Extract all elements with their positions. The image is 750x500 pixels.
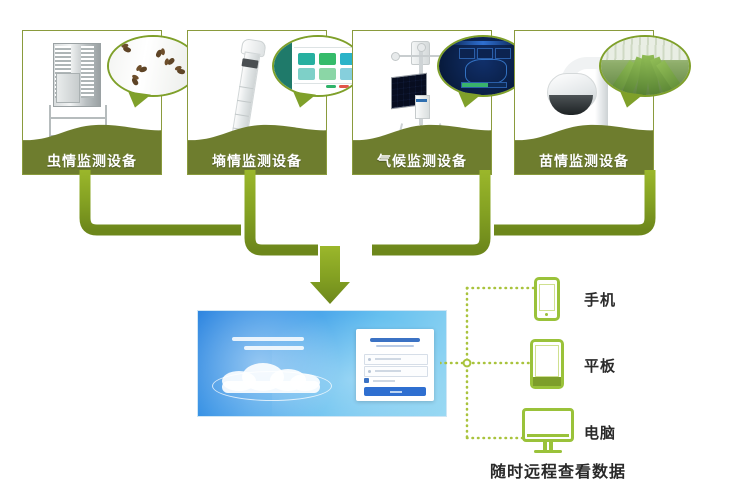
crop-callout-bubble bbox=[599, 35, 691, 97]
platform-login-card[interactable] bbox=[356, 329, 434, 401]
remember-label bbox=[373, 380, 395, 382]
source-card-pest[interactable]: 虫情监测设备 bbox=[22, 30, 162, 175]
callout-tail bbox=[456, 91, 481, 109]
source-card-crop[interactable]: 苗情监测设备 bbox=[514, 30, 654, 175]
footer-caption: 随时远程查看数据 bbox=[490, 458, 626, 482]
callout-tail bbox=[618, 91, 643, 109]
platform-login-screenshot[interactable] bbox=[197, 310, 447, 417]
insects-on-plate-photo bbox=[107, 35, 199, 97]
cloud-graphic bbox=[222, 363, 320, 397]
source-card-climate[interactable]: 气候监测设备 bbox=[352, 30, 492, 175]
source-card-soil[interactable]: 墒情监测设备 bbox=[187, 30, 327, 175]
login-title bbox=[370, 338, 420, 342]
output-label-computer: 电脑 bbox=[584, 422, 616, 443]
pest-callout-bubble bbox=[107, 35, 199, 97]
desktop-monitor-icon bbox=[522, 408, 574, 454]
login-submit-button[interactable] bbox=[364, 387, 426, 396]
smartphone-icon bbox=[534, 277, 560, 321]
password-field[interactable] bbox=[364, 366, 428, 377]
remember-checkbox[interactable] bbox=[364, 378, 369, 383]
greenhouse-interior-photo bbox=[599, 35, 691, 97]
insect-trap-cabinet-icon bbox=[49, 43, 103, 135]
callout-tail bbox=[126, 91, 151, 109]
tablet-icon bbox=[530, 339, 564, 389]
soil-callout-bubble bbox=[272, 35, 364, 97]
distribution-node bbox=[464, 360, 471, 367]
callout-tail bbox=[291, 91, 316, 109]
output-label-tablet: 平板 bbox=[584, 355, 616, 376]
output-label-phone: 手机 bbox=[584, 289, 616, 310]
login-subtitle bbox=[376, 345, 414, 347]
soil-data-dashboard-screen bbox=[272, 35, 364, 97]
username-field[interactable] bbox=[364, 354, 428, 365]
platform-hero-text bbox=[232, 337, 312, 355]
soil-moisture-probe-icon bbox=[223, 38, 266, 142]
diagram-canvas: 虫情监测设备 bbox=[0, 0, 750, 500]
